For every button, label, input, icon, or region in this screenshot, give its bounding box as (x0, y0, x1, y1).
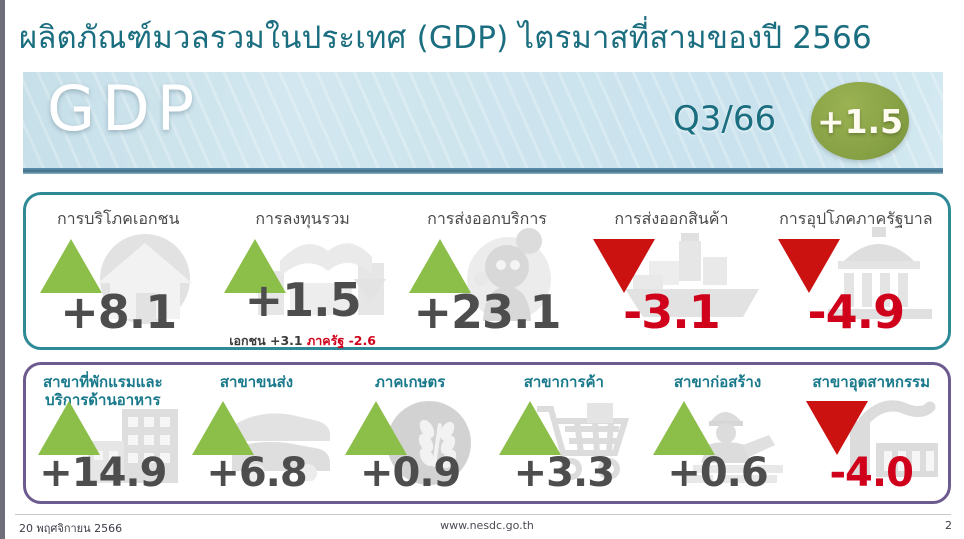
metric-private-consumption: การบริโภคเอกชน +8.1 (26, 195, 210, 347)
up-arrow-icon (345, 401, 407, 455)
metric-label: การลงทุนรวม (210, 207, 394, 232)
sector-construction: สาขาก่อสร้าง +0.6 (641, 365, 795, 501)
sector-trade: สาขาการค้า +3.3 (487, 365, 641, 501)
page-title: ผลิตภัณฑ์มวลรวมในประเทศ (GDP) ไตรมาสที่ส… (19, 16, 949, 60)
gdp-growth-value: +1.5 (817, 105, 903, 138)
sector-label: สาขาอุตสาหกรรม (794, 373, 948, 391)
footer-divider (15, 514, 951, 515)
expenditure-card: การบริโภคเอกชน +8.1 การลงทุนรวม (23, 192, 951, 350)
sectors-card: สาขาที่พักแรมและ บริการด้านอาหาร (23, 362, 951, 504)
sector-label: ภาคเกษตร (333, 373, 487, 391)
up-arrow-icon (192, 401, 254, 455)
footer-url: www.nesdc.go.th (5, 519, 964, 532)
investment-subnote: เอกชน +3.1 ภาครัฐ -2.6 (210, 331, 394, 351)
public-investment-value: -2.6 (349, 333, 376, 348)
private-investment-label: เอกชน (229, 333, 265, 348)
sector-value: +6.8 (180, 453, 334, 493)
banner-bottom-rule (23, 168, 943, 174)
metric-government-consumption: การอุปโภคภาครัฐบาล -4.9 (764, 195, 948, 347)
sector-label: สาขาขนส่ง (180, 373, 334, 391)
metric-value: +1.5 (210, 277, 394, 323)
sector-value: +14.9 (26, 453, 180, 493)
metric-goods-exports: การส่งออกสินค้า -3.1 (579, 195, 763, 347)
metric-service-exports: การส่งออกบริการ +23.1 (395, 195, 579, 347)
up-arrow-icon (38, 401, 100, 455)
metric-value: +8.1 (26, 289, 210, 335)
metric-value: +23.1 (395, 289, 579, 335)
gdp-wordmark: GDP (47, 78, 201, 140)
sector-hotels-and-food: สาขาที่พักแรมและ บริการด้านอาหาร (26, 365, 180, 501)
sector-label: สาขาก่อสร้าง (641, 373, 795, 391)
private-investment-value: +3.1 (270, 333, 303, 348)
metric-value: -4.9 (764, 289, 948, 335)
quarter-label: Q3/66 (673, 100, 776, 138)
footer-page-number: 2 (945, 519, 952, 532)
sector-value: +0.6 (641, 453, 795, 493)
sector-label: สาขาการค้า (487, 373, 641, 391)
sector-agriculture: ภาคเกษตร (333, 365, 487, 501)
metric-label: การอุปโภคภาครัฐบาล (764, 207, 948, 232)
up-arrow-icon (653, 401, 715, 455)
metric-label: การส่งออกสินค้า (579, 207, 763, 232)
sector-value: +3.3 (487, 453, 641, 493)
metric-value: -3.1 (579, 289, 763, 335)
metric-label: การส่งออกบริการ (395, 207, 579, 232)
sector-value: +0.9 (333, 453, 487, 493)
sector-industry: สาขาอุตสาหกรรม -4.0 (794, 365, 948, 501)
up-arrow-icon (499, 401, 561, 455)
sector-label-line1: สาขาที่พักแรมและ (43, 373, 163, 391)
gdp-growth-badge: +1.5 (811, 82, 909, 160)
metric-total-investment: การลงทุนรวม +1.5 เอกชน +3.1 ภาครัฐ (210, 195, 394, 347)
public-investment-label: ภาครัฐ (307, 333, 344, 348)
sector-transport: สาขาขนส่ง +6.8 (180, 365, 334, 501)
slide-page: ผลิตภัณฑ์มวลรวมในประเทศ (GDP) ไตรมาสที่ส… (0, 0, 964, 539)
sector-value: -4.0 (794, 453, 948, 493)
down-arrow-icon (806, 401, 868, 455)
metric-label: การบริโภคเอกชน (26, 207, 210, 232)
